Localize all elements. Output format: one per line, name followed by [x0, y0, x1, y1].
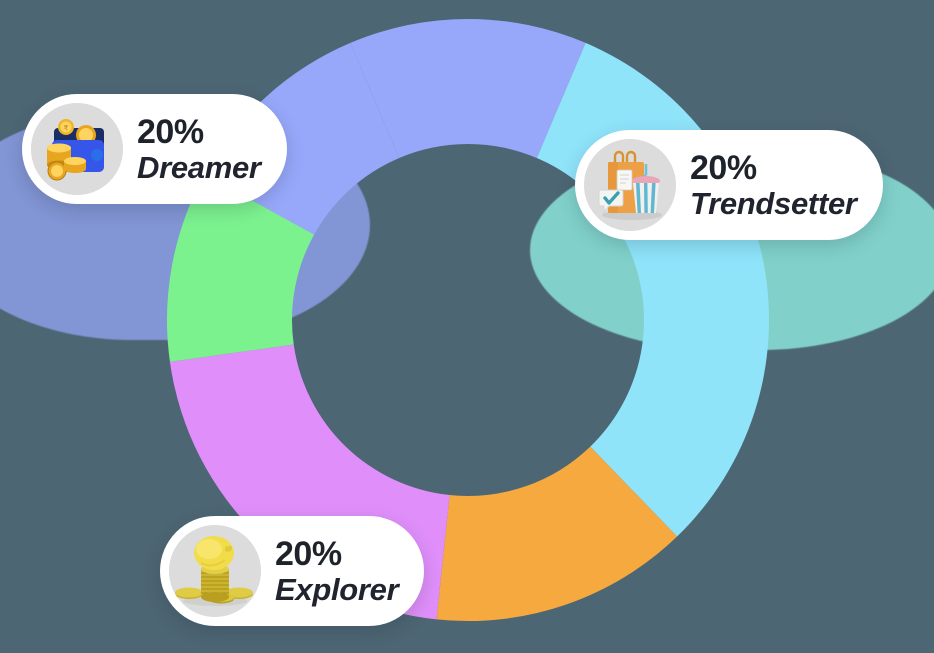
callout-label: Explorer	[275, 574, 398, 605]
callout-percent: 20%	[275, 537, 398, 571]
callout-pill-explorer[interactable]: 20% Explorer	[160, 516, 424, 626]
svg-text:₹: ₹	[64, 125, 69, 133]
chart-stage: ₹ 20% Dre	[0, 0, 934, 653]
wallet-coins-icon: ₹	[31, 103, 123, 195]
callout-percent: 20%	[690, 151, 857, 185]
callout-label: Trendsetter	[690, 188, 857, 219]
callout-pill-trendsetter[interactable]: 20% Trendsetter	[575, 130, 883, 240]
lemon-coins-icon	[169, 525, 261, 617]
callout-text-trendsetter: 20% Trendsetter	[690, 151, 857, 219]
callout-percent: 20%	[137, 115, 261, 149]
callout-pill-dreamer[interactable]: ₹ 20% Dre	[22, 94, 287, 204]
shopping-bag-drink-icon	[584, 139, 676, 231]
callout-text-explorer: 20% Explorer	[275, 537, 398, 605]
callout-label: Dreamer	[137, 152, 261, 183]
callout-text-dreamer: 20% Dreamer	[137, 115, 261, 183]
